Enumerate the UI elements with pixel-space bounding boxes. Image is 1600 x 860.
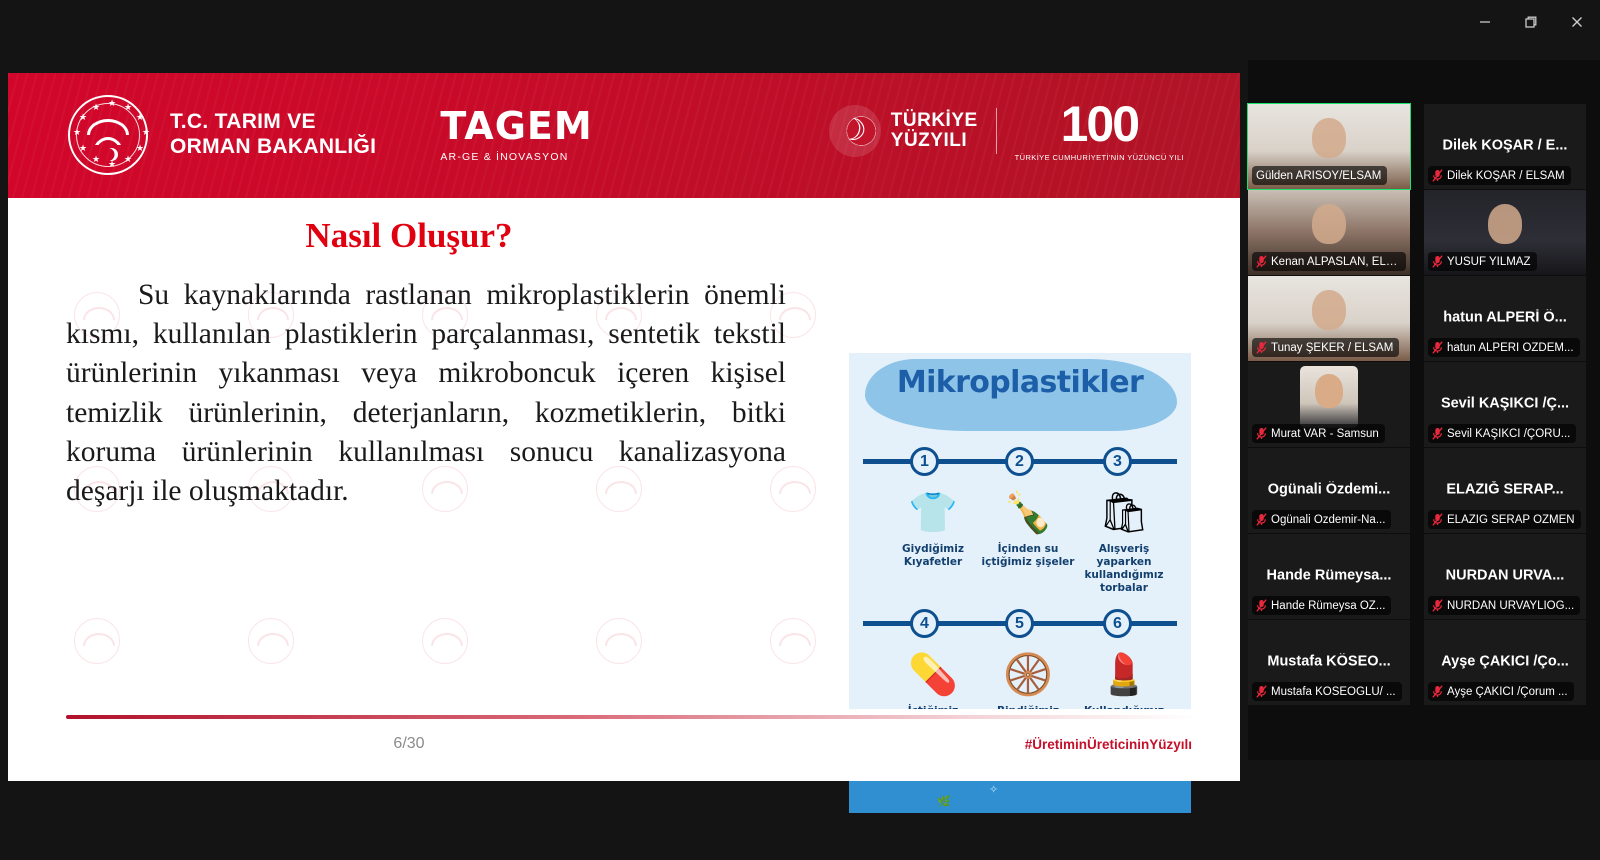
participant-tile[interactable]: ELAZIĞ SERAP...ELAZIĞ SERAP ÖZMEN (1424, 448, 1586, 533)
participant-tile[interactable]: Kenan ALPASLAN, ELS... (1248, 190, 1410, 275)
step-number: 6 (1103, 609, 1132, 638)
bottle-icon: 🍾 (975, 487, 1081, 539)
participant-name-label: Kenan ALPASLAN, ELS... (1271, 256, 1400, 268)
participant-name-badge: NURDAN URVAYLIOG... (1428, 596, 1580, 615)
participant-tile[interactable]: Murat VAR - Samsun (1248, 362, 1410, 447)
muted-mic-icon (1256, 685, 1267, 698)
participant-name-badge: Ogünali Özdemir-Na... (1252, 510, 1391, 529)
participant-name-badge: ELAZIĞ SERAP ÖZMEN (1428, 510, 1581, 529)
muted-mic-icon (1432, 427, 1443, 440)
participant-name-label: Ogünali Özdemir-Na... (1271, 514, 1385, 526)
muted-mic-icon (1432, 169, 1443, 182)
participants-panel[interactable]: Gülden ARISOY/ELSAMDilek KOŞAR / E...Dil… (1248, 60, 1600, 760)
participant-tile[interactable]: hatun ALPERİ Ö...hatun ALPERİ ÖZDEM... (1424, 276, 1586, 361)
participant-tile[interactable]: Ogünali Özdemi...Ogünali Özdemir-Na... (1248, 448, 1410, 533)
participant-tile[interactable]: Tunay ŞEKER / ELSAM (1248, 276, 1410, 361)
slide-body: Nasıl Oluşur? Su kaynaklarında rastlanan… (8, 198, 1240, 781)
turkiye-label: TÜRKİYE (891, 111, 978, 131)
divider (996, 108, 997, 154)
muted-mic-icon (1432, 513, 1443, 526)
participant-tile[interactable]: YUSUF YILMAZ (1424, 190, 1586, 275)
participant-name-badge: Kenan ALPASLAN, ELS... (1252, 252, 1406, 271)
participant-name-badge: Gülden ARISOY/ELSAM (1252, 166, 1387, 185)
ministry-name: T.C. TARIM VE ORMAN BAKANLIĞI (170, 110, 376, 160)
participant-name-badge: YUSUF YILMAZ (1428, 252, 1537, 271)
centenary-number: 100 (1015, 101, 1184, 149)
tagem-wordmark: TAGEM (440, 107, 592, 145)
muted-mic-icon (1256, 255, 1267, 268)
participant-name-label: Ayşe ÇAKICI /Çorum ... (1447, 686, 1568, 698)
step-number: 1 (910, 447, 939, 476)
ministry-line-1: T.C. TARIM VE (170, 110, 376, 135)
participant-name-badge: Hande Rümeysa ÖZ... (1252, 596, 1391, 615)
participant-display-name: ELAZIĞ SERAP... (1424, 481, 1586, 497)
minimize-icon[interactable] (1462, 0, 1508, 44)
step-cell: 🍾 İçinden su içtiğimiz şişeler (975, 487, 1081, 569)
muted-mic-icon (1256, 341, 1267, 354)
muted-mic-icon (1256, 513, 1267, 526)
tshirt-icon: 👕 (880, 487, 986, 539)
page-title: Nasıl Oluşur? (8, 216, 810, 256)
ministry-brand: ★★★ ★★★ ★★★ ★★★ T.C. TARIM VE ORMAN BAKA… (68, 95, 593, 175)
participant-name-label: Sevil KAŞIKCI /ÇORU... (1447, 428, 1570, 440)
participant-tile[interactable]: Hande Rümeysa...Hande Rümeysa ÖZ... (1248, 534, 1410, 619)
seaweed-icon: 🌿 (937, 795, 951, 808)
participant-display-name: Ayşe ÇAKICI /Ço... (1424, 653, 1586, 669)
bag-icon: 🛍 (1071, 487, 1177, 539)
step-cell: 👕 Giydiğimiz Kıyafetler (880, 487, 986, 569)
yuzyili-label: YÜZYILI (891, 131, 978, 151)
muted-mic-icon (1432, 685, 1443, 698)
participant-name-badge: hatun ALPERİ ÖZDEM... (1428, 338, 1580, 357)
participant-name-label: Hande Rümeysa ÖZ... (1271, 600, 1385, 612)
participant-display-name: Ogünali Özdemi... (1248, 481, 1410, 497)
step-number: 5 (1005, 609, 1034, 638)
step-caption: Alışveriş yaparken kullandığımız torbala… (1071, 543, 1177, 596)
muted-mic-icon (1432, 341, 1443, 354)
footer-rule (66, 715, 1200, 719)
participant-name-badge: Sevil KAŞIKCI /ÇORU... (1428, 424, 1576, 443)
participant-name-label: Murat VAR - Samsun (1271, 428, 1379, 440)
participant-name-label: Tunay ŞEKER / ELSAM (1271, 342, 1393, 354)
step-number: 4 (910, 609, 939, 638)
campaign-hashtag: #ÜretiminÜreticininYüzyılı (1025, 737, 1192, 752)
step-number: 3 (1103, 447, 1132, 476)
participant-display-name: NURDAN URVA... (1424, 567, 1586, 583)
crescent-star-icon (829, 105, 881, 157)
restore-icon[interactable] (1508, 0, 1554, 44)
cosmetics-icon: 💄 (1071, 649, 1177, 701)
app-window: ★★★ ★★★ ★★★ ★★★ T.C. TARIM VE ORMAN BAKA… (0, 0, 1600, 860)
participant-tile[interactable]: Sevil KAŞIKCI /Ç...Sevil KAŞIKCI /ÇORU..… (1424, 362, 1586, 447)
infographic-title: Mikroplastikler (849, 365, 1191, 400)
ministry-seal-icon: ★★★ ★★★ ★★★ ★★★ (68, 95, 148, 175)
participant-tile[interactable]: Dilek KOŞAR / E...Dilek KOŞAR / ELSAM (1424, 104, 1586, 189)
tire-icon: 🛞 (975, 649, 1081, 701)
participant-name-label: Mustafa KÖSEOĞLU/ ... (1271, 686, 1396, 698)
participant-tile[interactable]: Mustafa KÖSEO...Mustafa KÖSEOĞLU/ ... (1248, 620, 1410, 705)
tagem-tagline: AR-GE & İNOVASYON (440, 151, 592, 163)
participant-name-label: hatun ALPERİ ÖZDEM... (1447, 342, 1574, 354)
participant-tile[interactable]: Ayşe ÇAKICI /Ço...Ayşe ÇAKICI /Çorum ... (1424, 620, 1586, 705)
participant-display-name: Hande Rümeysa... (1248, 567, 1410, 583)
participant-name-label: YUSUF YILMAZ (1447, 256, 1531, 268)
participant-name-badge: Dilek KOŞAR / ELSAM (1428, 166, 1571, 185)
shared-screen-slide: ★★★ ★★★ ★★★ ★★★ T.C. TARIM VE ORMAN BAKA… (8, 73, 1240, 781)
muted-mic-icon (1432, 255, 1443, 268)
centenary-logo: 100 TÜRKİYE CUMHURİYETİ'NİN YÜZÜNCÜ YILI (1015, 101, 1184, 162)
participant-display-name: Mustafa KÖSEO... (1248, 653, 1410, 669)
close-icon[interactable] (1554, 0, 1600, 44)
participant-name-badge: Mustafa KÖSEOĞLU/ ... (1252, 682, 1402, 701)
participant-name-badge: Murat VAR - Samsun (1252, 424, 1385, 443)
fish-icon: ✧ (989, 783, 998, 796)
step-caption: İçinden su içtiğimiz şişeler (975, 543, 1081, 569)
participant-name-label: Dilek KOŞAR / ELSAM (1447, 170, 1565, 182)
participant-name-label: NURDAN URVAYLIOG... (1447, 600, 1574, 612)
window-controls (1462, 0, 1600, 44)
ministry-line-2: ORMAN BAKANLIĞI (170, 135, 376, 160)
participant-name-label: Gülden ARISOY/ELSAM (1256, 170, 1381, 182)
participant-tile[interactable]: Gülden ARISOY/ELSAM (1248, 104, 1410, 189)
participant-name-badge: Tunay ŞEKER / ELSAM (1252, 338, 1399, 357)
participant-display-name: Dilek KOŞAR / E... (1424, 137, 1586, 153)
muted-mic-icon (1256, 427, 1267, 440)
participant-display-name: hatun ALPERİ Ö... (1424, 309, 1586, 325)
step-number: 2 (1005, 447, 1034, 476)
turkiye-yuzyili-brand: TÜRKİYE YÜZYILI 100 TÜRKİYE CUMHURİYETİ'… (829, 101, 1184, 162)
step-caption: Giydiğimiz Kıyafetler (880, 543, 986, 569)
participant-display-name: Sevil KAŞIKCI /Ç... (1424, 395, 1586, 411)
muted-mic-icon (1256, 599, 1267, 612)
centenary-caption: TÜRKİYE CUMHURİYETİ'NİN YÜZÜNCÜ YILI (1015, 153, 1184, 162)
slide-paragraph: Su kaynaklarında rastlanan mikroplastikl… (66, 276, 786, 511)
muted-mic-icon (1432, 599, 1443, 612)
step-cell: 🛍 Alışveriş yaparken kullandığımız torba… (1071, 487, 1177, 596)
slide-footer: 6/30 #ÜretiminÜreticininYüzyılı (8, 709, 1240, 781)
page-number: 6/30 (8, 735, 810, 753)
avatar (1300, 366, 1358, 428)
participant-name-label: ELAZIĞ SERAP ÖZMEN (1447, 514, 1575, 526)
pill-icon: 💊 (880, 649, 986, 701)
participant-tile[interactable]: NURDAN URVA...NURDAN URVAYLIOG... (1424, 534, 1586, 619)
slide-header-band: ★★★ ★★★ ★★★ ★★★ T.C. TARIM VE ORMAN BAKA… (8, 73, 1240, 198)
turkiye-yuzyili-mark: TÜRKİYE YÜZYILI (829, 105, 978, 157)
tagem-logo: TAGEM AR-GE & İNOVASYON (440, 107, 592, 163)
participant-name-badge: Ayşe ÇAKICI /Çorum ... (1428, 682, 1574, 701)
